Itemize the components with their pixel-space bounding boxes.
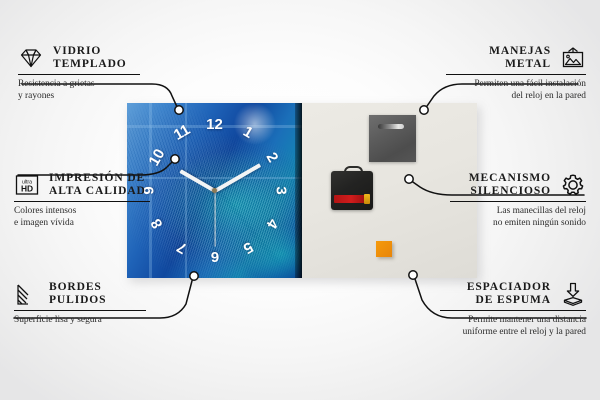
diamond-icon (18, 45, 44, 71)
hanger-slot (378, 124, 404, 129)
callout-title: BORDES PULIDOS (49, 281, 106, 307)
callout-bordes-pulidos: BORDES PULIDOS Superficie lisa y segura (14, 281, 146, 327)
callout-title: MANEJAS METAL (489, 45, 551, 71)
callout-rule (14, 201, 150, 202)
callout-description: Superficie lisa y segura (14, 315, 146, 326)
clock-face: 121234567891011 (127, 103, 302, 278)
callout-header: MECANISMO SILENCIOSO (450, 172, 586, 198)
clock-numeral-3: 3 (273, 180, 288, 200)
callout-title: ESPACIADOR DE ESPUMA (467, 281, 551, 307)
callout-vidrio-templado: VIDRIO TEMPLADO Resistencia a grietas y … (18, 45, 140, 102)
callout-rule (14, 310, 146, 311)
callout-description: Las manecillas del reloj no emiten ningú… (450, 206, 586, 229)
foam-spacer (376, 241, 392, 257)
clock-right-edge (295, 103, 302, 278)
picture-frame-icon (560, 45, 586, 71)
callout-header: MANEJAS METAL (446, 45, 586, 71)
ultra-hd-icon: ultra HD (14, 172, 40, 198)
infographic-canvas: 121234567891011 (0, 0, 600, 400)
callout-espaciador-de-espuma: ESPACIADOR DE ESPUMA Permite mantener un… (440, 281, 586, 338)
callout-rule (446, 74, 586, 75)
clock-second-hand (214, 191, 215, 247)
callout-description: Permiten una fácil instalación del reloj… (446, 79, 586, 102)
callout-title: MECANISMO SILENCIOSO (469, 172, 551, 198)
product-image-block: 121234567891011 (127, 103, 477, 278)
callout-header: ultra HD IMPRESIÓN DE ALTA CALIDAD (14, 172, 150, 198)
callout-header: BORDES PULIDOS (14, 281, 146, 307)
callout-description: Colores intensos e imagen vívida (14, 206, 150, 229)
polished-edges-icon (14, 281, 40, 307)
callout-description: Permite mantener una distancia uniforme … (440, 315, 586, 338)
callout-header: VIDRIO TEMPLADO (18, 45, 140, 71)
silent-clock-mechanism (331, 166, 373, 210)
callout-manejas-metal: MANEJAS METAL Permiten una fácil instala… (446, 45, 586, 102)
mechanism-body (331, 171, 373, 210)
callout-title: IMPRESIÓN DE ALTA CALIDAD (49, 172, 146, 198)
foam-spacer-icon (560, 281, 586, 307)
clock-numeral-6: 6 (205, 249, 225, 264)
gear-icon (560, 172, 586, 198)
callout-header: ESPACIADOR DE ESPUMA (440, 281, 586, 307)
clock-center-cap (212, 188, 217, 193)
callout-impresion-alta-calidad: ultra HD IMPRESIÓN DE ALTA CALIDAD Color… (14, 172, 150, 229)
mechanism-battery (334, 195, 365, 203)
callout-mecanismo-silencioso: MECANISMO SILENCIOSO Las manecillas del … (450, 172, 586, 229)
svg-text:HD: HD (21, 183, 33, 193)
callout-rule (440, 310, 586, 311)
mechanism-battery-terminal (364, 194, 370, 204)
clock-numeral-12: 12 (205, 117, 225, 132)
callout-rule (450, 201, 586, 202)
metal-hanger-plate (369, 115, 416, 162)
callout-rule (18, 74, 140, 75)
callout-title: VIDRIO TEMPLADO (53, 45, 127, 71)
callout-description: Resistencia a grietas y rayones (18, 79, 140, 102)
